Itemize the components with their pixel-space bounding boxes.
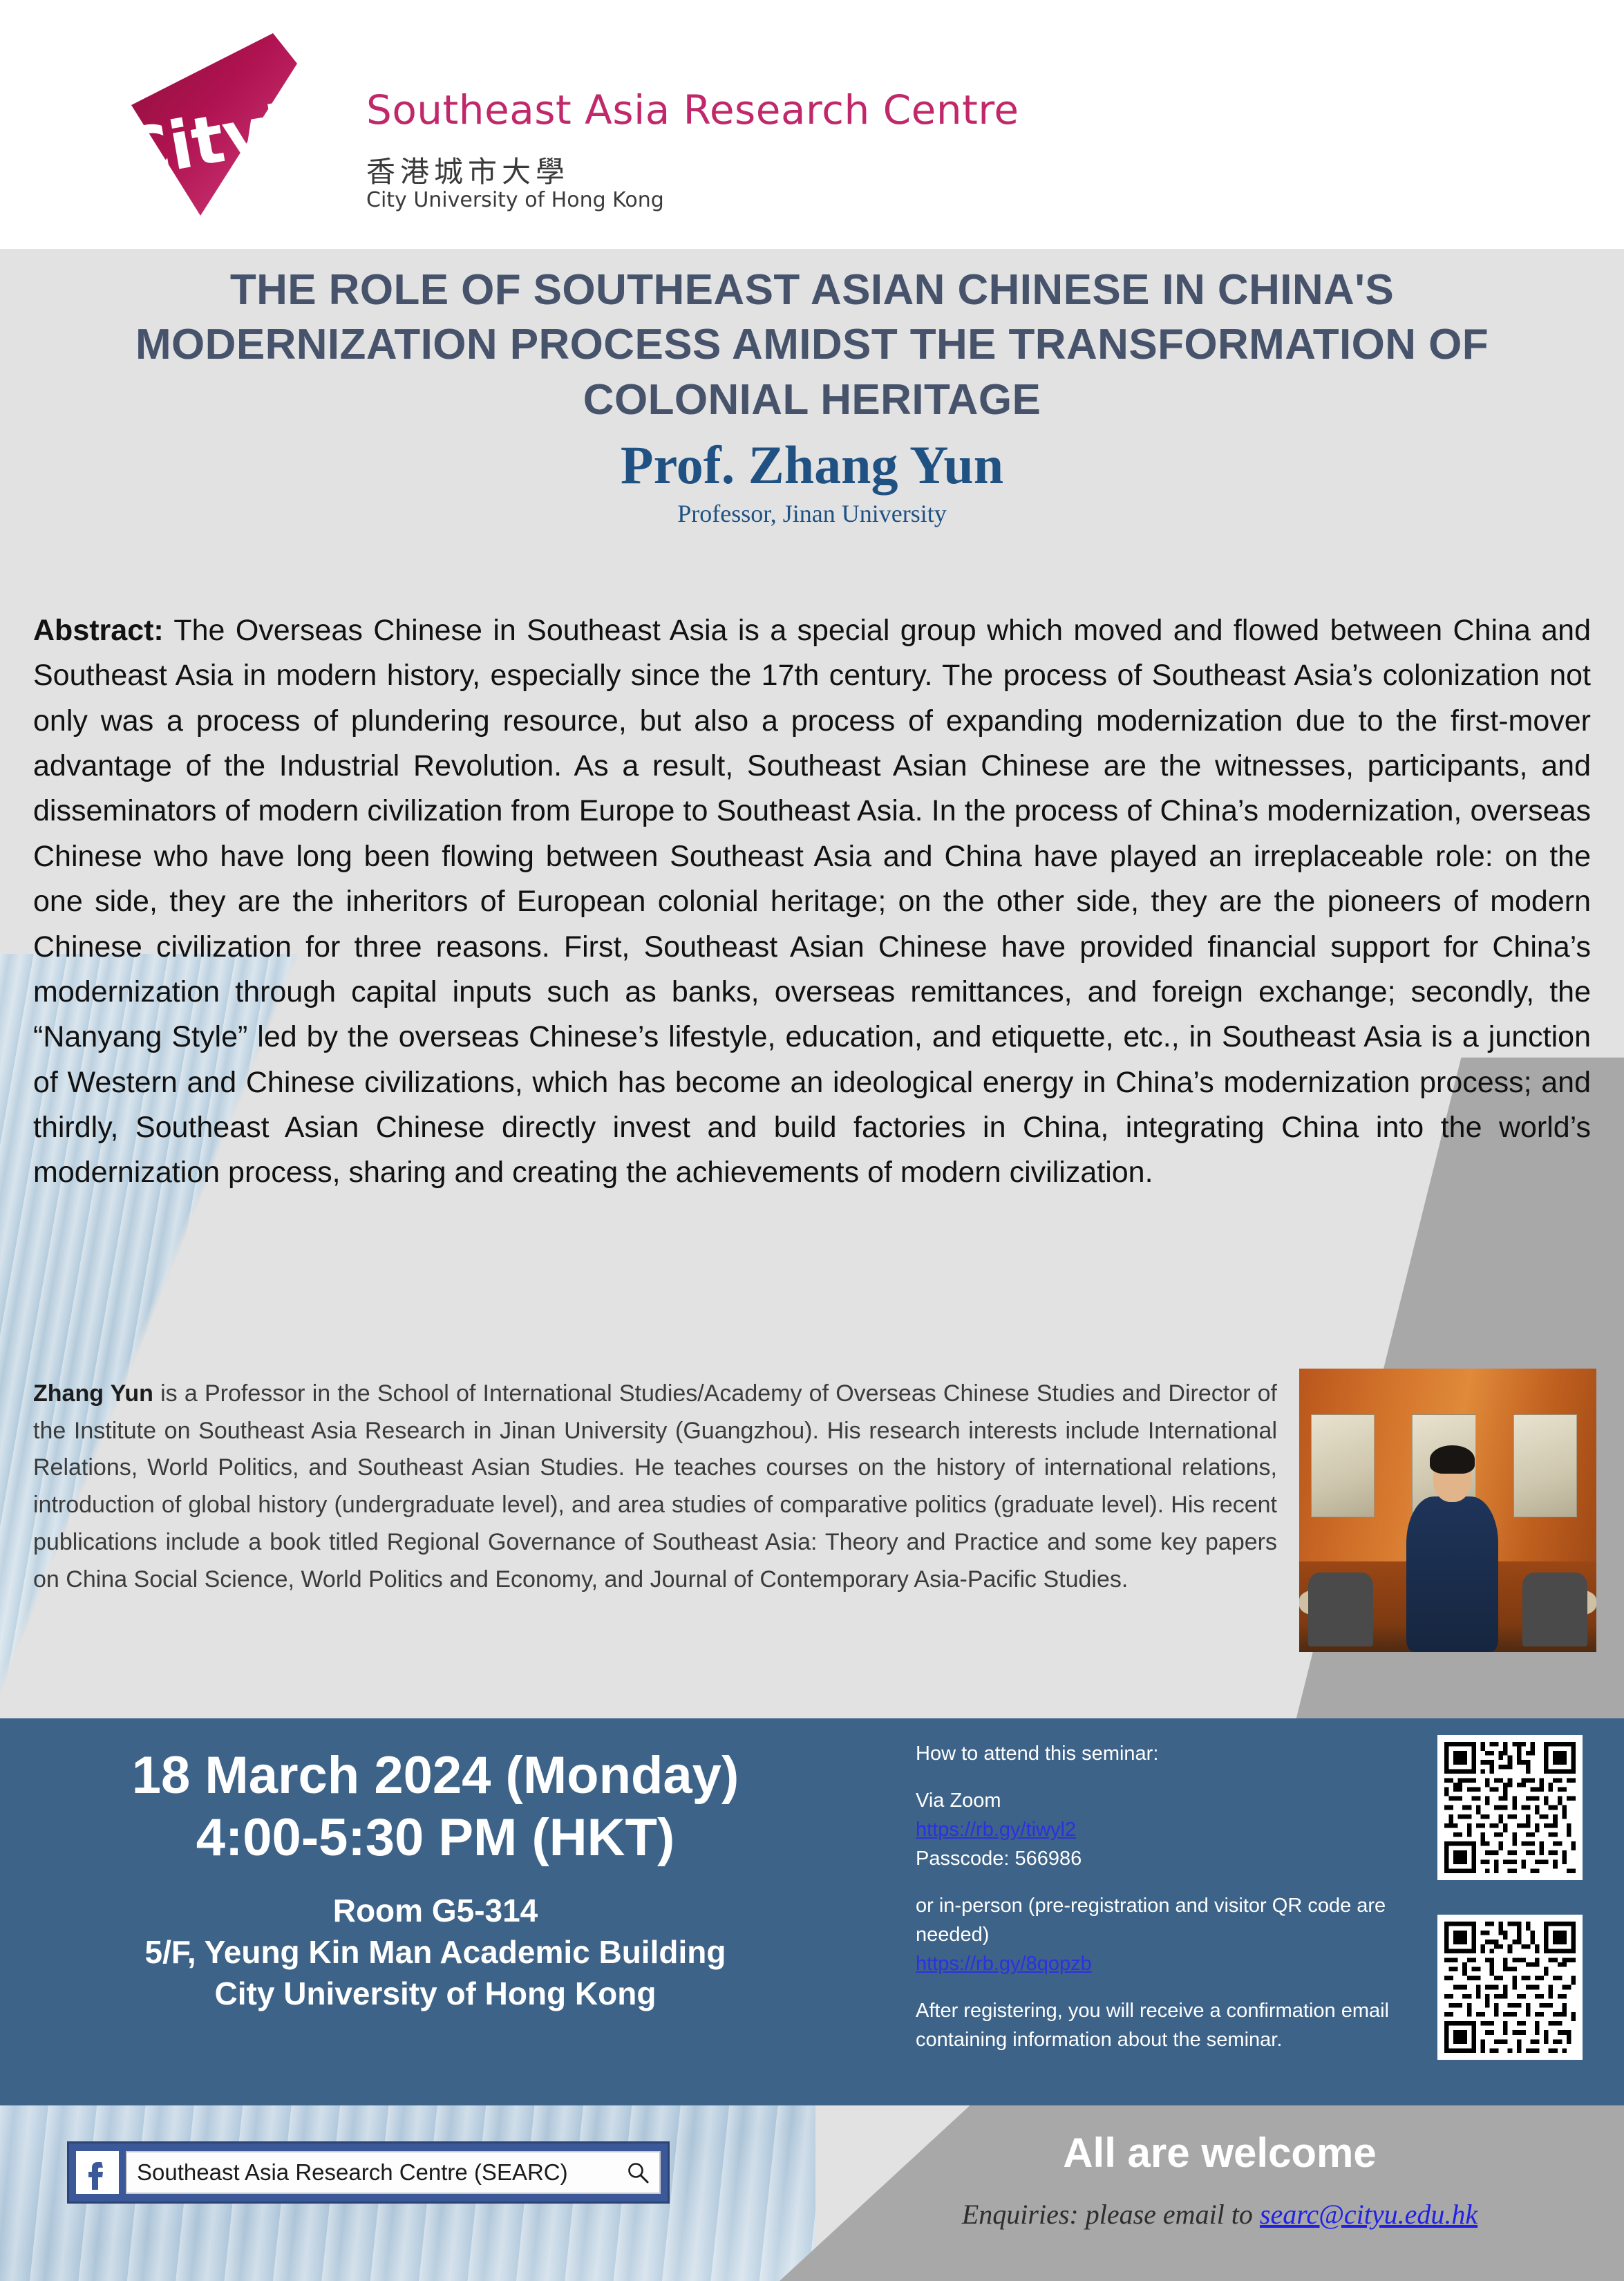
event-when-where: 18 March 2024 (Monday) 4:00-5:30 PM (HKT… <box>28 1745 843 2015</box>
speaker-name: Prof. Zhang Yun <box>0 435 1624 495</box>
university-name-english: City University of Hong Kong <box>366 188 664 212</box>
speaker-affiliation: Professor, Jinan University <box>0 499 1624 528</box>
bio-name: Zhang Yun <box>33 1380 153 1407</box>
event-university: City University of Hong Kong <box>28 1973 843 2015</box>
qr-code-image <box>1444 1922 1576 2053</box>
search-icon[interactable] <box>626 2161 650 2184</box>
enquiries-email-link[interactable]: searc@cityu.edu.hk <box>1260 2199 1477 2230</box>
attend-passcode: Passcode: 566986 <box>916 1844 1399 1873</box>
poster-header: CityU Southeast Asia Research Centre 香港城… <box>0 0 1624 249</box>
inperson-qr-code[interactable] <box>1437 1915 1583 2060</box>
abstract-text: The Overseas Chinese in Southeast Asia i… <box>33 614 1591 1189</box>
qr-code-image <box>1444 1742 1576 1873</box>
centre-name: Southeast Asia Research Centre <box>366 86 1019 133</box>
bio-text: is a Professor in the School of Internat… <box>33 1380 1277 1593</box>
enquiries-line: Enquiries: please email to searc@cityu.e… <box>815 2198 1624 2231</box>
event-room: Room G5-314 <box>28 1890 843 1932</box>
enquiries-prefix: Enquiries: please email to <box>962 2199 1260 2230</box>
attend-heading: How to attend this seminar: <box>916 1739 1399 1768</box>
cityu-searc-logo: CityU Southeast Asia Research Centre 香港城… <box>76 21 974 228</box>
zoom-registration-link[interactable]: https://rb.gy/tiwyl2 <box>916 1819 1076 1841</box>
all-are-welcome-text: All are welcome <box>815 2129 1624 2177</box>
event-building: 5/F, Yeung Kin Man Academic Building <box>28 1932 843 1973</box>
attend-note: After registering, you will receive a co… <box>916 1996 1399 2054</box>
facebook-icon <box>76 2151 119 2194</box>
university-name-chinese: 香港城市大學 <box>366 149 569 191</box>
facebook-search-box[interactable]: Southeast Asia Research Centre (SEARC) <box>126 2151 661 2194</box>
event-details-band: 18 March 2024 (Monday) 4:00-5:30 PM (HKT… <box>0 1718 1624 2105</box>
event-date: 18 March 2024 (Monday) <box>28 1745 843 1807</box>
speaker-photo <box>1299 1369 1596 1652</box>
facebook-page-widget[interactable]: Southeast Asia Research Centre (SEARC) <box>67 2141 670 2204</box>
page-title: THE ROLE OF SOUTHEAST ASIAN CHINESE IN C… <box>100 263 1524 427</box>
title-block: THE ROLE OF SOUTHEAST ASIAN CHINESE IN C… <box>0 263 1624 528</box>
attend-via-zoom-label: Via Zoom <box>916 1786 1399 1815</box>
how-to-attend-block: How to attend this seminar: Via Zoom htt… <box>916 1739 1399 2054</box>
attend-inperson-label: or in-person (pre-registration and visit… <box>916 1891 1399 1949</box>
inperson-registration-link[interactable]: https://rb.gy/8qopzb <box>916 1953 1092 1975</box>
speaker-bio-paragraph: Zhang Yun is a Professor in the School o… <box>33 1376 1277 1598</box>
abstract-paragraph: Abstract: The Overseas Chinese in Southe… <box>33 608 1591 1196</box>
cityu-logo-icon: CityU <box>90 28 359 225</box>
event-time: 4:00-5:30 PM (HKT) <box>28 1807 843 1869</box>
facebook-page-name: Southeast Asia Research Centre (SEARC) <box>137 2159 568 2186</box>
seminar-poster: CityU Southeast Asia Research Centre 香港城… <box>0 0 1624 2281</box>
abstract-label: Abstract: <box>33 614 164 647</box>
zoom-qr-code[interactable] <box>1437 1735 1583 1880</box>
